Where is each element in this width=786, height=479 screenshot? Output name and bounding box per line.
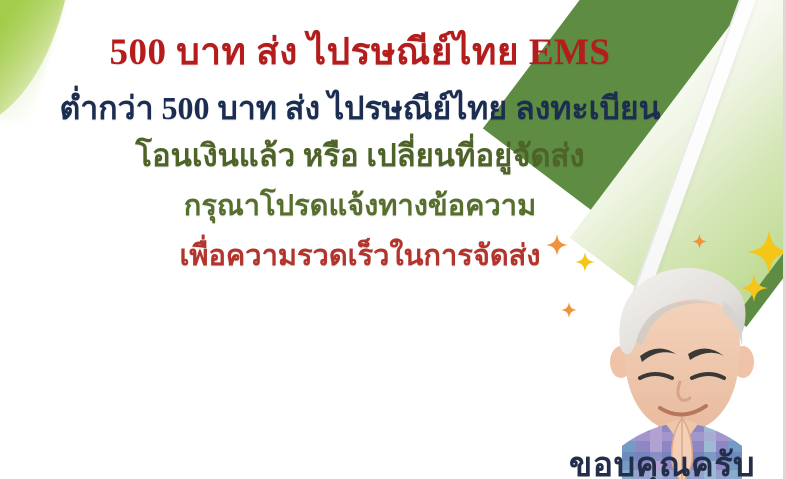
thank-you-text: ขอบคุณครับ (546, 437, 778, 479)
sparkle-icon (546, 234, 568, 256)
headline-ems-shipping: 500 บาท ส่ง ไปรษณีย์ไทย EMS (0, 34, 720, 72)
instruction-transfer-or-address: โอนเงินแล้ว หรือ เปลี่ยนที่อยู่จัดส่ง (0, 140, 720, 172)
promo-poster: 500 บาท ส่ง ไปรษณีย์ไทย EMS ต่ำกว่า 500 … (0, 0, 786, 479)
sparkle-icon (692, 234, 707, 249)
instruction-notify-by-message: กรุณาโปรดแจ้งทางข้อความ (0, 192, 720, 222)
subline-registered-shipping: ต่ำกว่า 500 บาท ส่ง ไปรษณีย์ไทย ลงทะเบีย… (0, 92, 720, 125)
sparkle-icon (561, 302, 577, 318)
